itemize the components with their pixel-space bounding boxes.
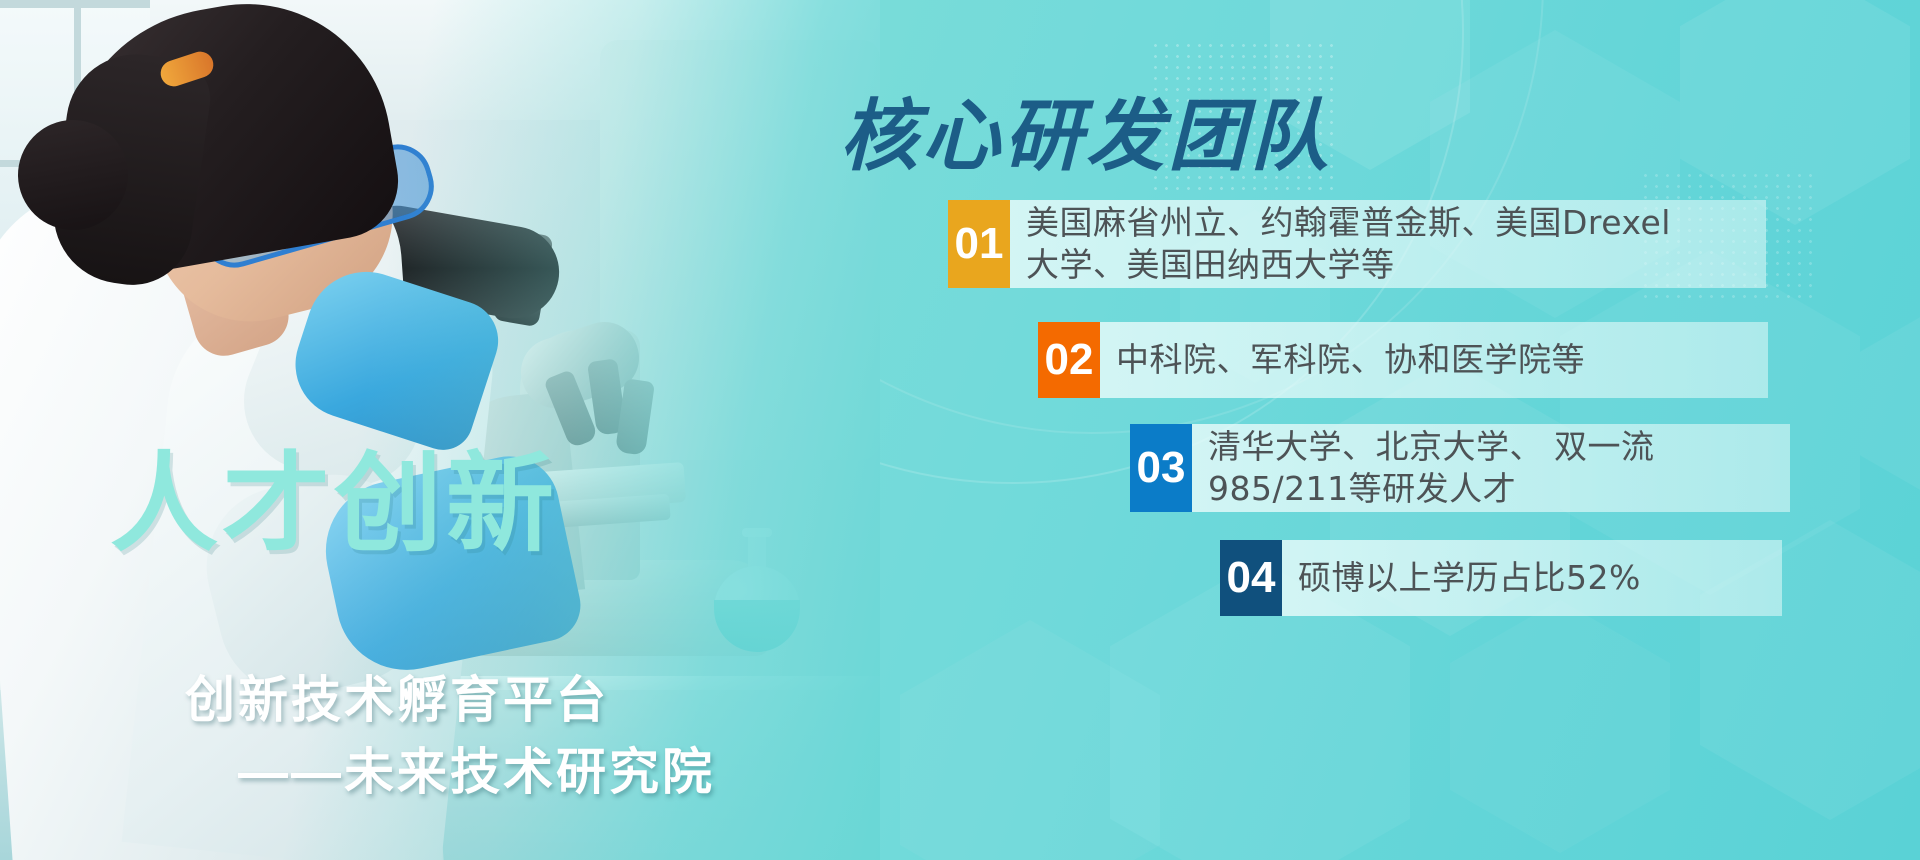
headline-sub-1: 创新技术孵育平台 — [185, 675, 609, 725]
promo-banner: 人才创新 创新技术孵育平台 ——未来技术研究院 核心研发团队 01 美国麻省州立… — [0, 0, 1920, 860]
item-panel-03: 清华大学、北京大学、 双一流 985/211等研发人才 — [1192, 424, 1790, 512]
item-badge-04: 04 — [1220, 540, 1282, 616]
headline-sub-2: ——未来技术研究院 — [238, 747, 715, 797]
item-badge-01: 01 — [948, 200, 1010, 288]
item-badge-02: 02 — [1038, 322, 1100, 398]
right-content-block: 核心研发团队 01 美国麻省州立、约翰霍普金斯、美国Drexel 大学、美国田纳… — [820, 0, 1920, 860]
left-headline-block: 人才创新 创新技术孵育平台 ——未来技术研究院 — [0, 0, 880, 860]
team-item-04: 04 硕博以上学历占比52% — [1220, 540, 1782, 616]
item-text-01: 美国麻省州立、约翰霍普金斯、美国Drexel 大学、美国田纳西大学等 — [1026, 202, 1671, 286]
section-title: 核心研发团队 — [840, 98, 1332, 176]
item-badge-03: 03 — [1130, 424, 1192, 512]
team-item-02: 02 中科院、军科院、协和医学院等 — [1038, 322, 1768, 398]
item-panel-01: 美国麻省州立、约翰霍普金斯、美国Drexel 大学、美国田纳西大学等 — [1010, 200, 1766, 288]
team-item-03: 03 清华大学、北京大学、 双一流 985/211等研发人才 — [1130, 424, 1790, 512]
item-text-04: 硕博以上学历占比52% — [1298, 557, 1641, 599]
team-item-01: 01 美国麻省州立、约翰霍普金斯、美国Drexel 大学、美国田纳西大学等 — [948, 200, 1766, 288]
item-text-03: 清华大学、北京大学、 双一流 985/211等研发人才 — [1208, 426, 1655, 510]
item-panel-02: 中科院、军科院、协和医学院等 — [1100, 322, 1768, 398]
item-text-02: 中科院、军科院、协和医学院等 — [1116, 339, 1585, 381]
item-panel-04: 硕博以上学历占比52% — [1282, 540, 1782, 616]
headline-main: 人才创新 — [110, 451, 558, 559]
